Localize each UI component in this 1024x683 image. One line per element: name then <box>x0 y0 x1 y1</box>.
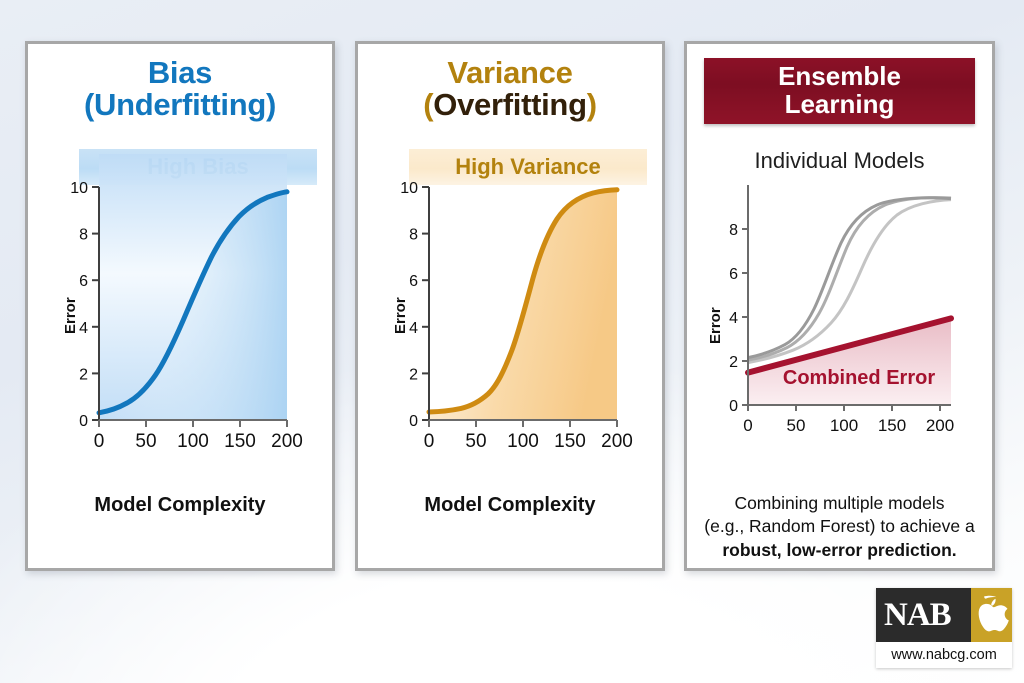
panel-variance-title-line1: Variance <box>358 57 662 89</box>
nab-wordmark-block: NAB <box>876 588 971 642</box>
paren-close: ) <box>587 87 597 122</box>
combined-error-label: Combined Error <box>783 367 935 389</box>
ensemble-caption-line2: (e.g., Random Forest) to achieve a <box>701 515 978 538</box>
svg-text:50: 50 <box>465 431 486 452</box>
panel-bias-title-line1: Bias <box>28 57 332 89</box>
svg-text:150: 150 <box>554 431 586 452</box>
svg-text:2: 2 <box>729 354 738 371</box>
infographic-canvas: Bias (Underfitting) High Bias <box>0 0 1024 683</box>
overfitting-word: Overfitting <box>433 87 586 122</box>
apple-icon-svg <box>971 588 1012 642</box>
svg-text:200: 200 <box>601 431 633 452</box>
variance-x-ticklabels: 0 50 100 150 200 <box>424 431 633 452</box>
panel-ensemble: Ensemble Learning Individual Models <box>684 41 995 571</box>
panel-bias-title-line2: (Underfitting) <box>28 89 332 121</box>
ensemble-x-ticklabels: 0 50 100 150 200 <box>743 416 954 435</box>
bias-y-ticks <box>92 187 99 420</box>
svg-text:150: 150 <box>878 416 906 435</box>
bias-chart-svg: 10 8 6 4 2 0 0 50 1 <box>48 154 320 514</box>
variance-chart-svg: 10 8 6 4 2 0 0 50 100 <box>378 154 650 514</box>
svg-text:0: 0 <box>79 413 88 430</box>
svg-text:2: 2 <box>409 366 418 383</box>
nab-logo[interactable]: NAB www.nabcg.com <box>876 588 1012 668</box>
svg-text:0: 0 <box>94 431 105 452</box>
variance-x-ticks <box>429 420 617 427</box>
svg-text:0: 0 <box>424 431 435 452</box>
svg-text:100: 100 <box>830 416 858 435</box>
svg-text:8: 8 <box>729 222 738 239</box>
svg-text:6: 6 <box>79 273 88 290</box>
variance-x-axis-title: Model Complexity <box>358 494 662 517</box>
ensemble-caption-line3: robust, low-error prediction. <box>701 539 978 562</box>
svg-text:0: 0 <box>743 416 752 435</box>
panel-bias-title: Bias (Underfitting) <box>28 57 332 121</box>
bias-y-axis-title: Error <box>62 297 79 334</box>
ensemble-banner-line2: Learning <box>778 91 901 119</box>
svg-text:200: 200 <box>271 431 303 452</box>
apple-icon <box>971 588 1012 642</box>
svg-text:100: 100 <box>177 431 209 452</box>
svg-text:6: 6 <box>409 273 418 290</box>
svg-text:50: 50 <box>135 431 156 452</box>
bias-x-axis-title: Model Complexity <box>28 494 332 517</box>
svg-text:8: 8 <box>79 227 88 244</box>
svg-text:10: 10 <box>70 180 88 197</box>
ensemble-banner-line1: Ensemble <box>778 63 901 91</box>
svg-text:100: 100 <box>507 431 539 452</box>
bias-chart: 10 8 6 4 2 0 0 50 1 <box>48 154 320 514</box>
ensemble-banner-text: Ensemble Learning <box>778 63 901 118</box>
ensemble-caption: Combining multiple models (e.g., Random … <box>701 492 978 562</box>
svg-text:8: 8 <box>409 227 418 244</box>
svg-text:10: 10 <box>400 180 418 197</box>
svg-text:200: 200 <box>926 416 954 435</box>
variance-area <box>429 190 617 420</box>
nab-logo-url: www.nabcg.com <box>876 642 1012 668</box>
svg-text:4: 4 <box>729 310 738 327</box>
variance-chart: 10 8 6 4 2 0 0 50 100 <box>378 154 650 514</box>
svg-text:6: 6 <box>729 266 738 283</box>
bias-x-ticks <box>99 420 287 427</box>
ensemble-y-ticklabels: 0 2 4 6 8 <box>729 222 738 415</box>
ensemble-chart-svg: 0 2 4 6 8 0 50 100 150 <box>701 169 983 474</box>
panel-variance-title-line2: (Overfitting) <box>358 89 662 121</box>
variance-y-axis-title: Error <box>392 297 409 334</box>
panel-variance-title: Variance (Overfitting) <box>358 57 662 121</box>
variance-y-ticks <box>422 187 429 420</box>
svg-text:2: 2 <box>79 366 88 383</box>
ensemble-caption-line1: Combining multiple models <box>701 492 978 515</box>
paren-open: ( <box>423 87 433 122</box>
svg-text:4: 4 <box>409 320 418 337</box>
svg-text:0: 0 <box>729 398 738 415</box>
svg-text:4: 4 <box>79 320 88 337</box>
svg-text:0: 0 <box>409 413 418 430</box>
ensemble-chart: 0 2 4 6 8 0 50 100 150 <box>701 169 983 474</box>
panel-bias: Bias (Underfitting) High Bias <box>25 41 335 571</box>
nab-logo-top: NAB <box>876 588 1012 642</box>
nab-wordmark: NAB <box>884 594 951 636</box>
svg-text:50: 50 <box>787 416 806 435</box>
bias-x-ticklabels: 0 50 100 150 200 <box>94 431 303 452</box>
panel-variance: Variance (Overfitting) High Variance <box>355 41 665 571</box>
svg-text:150: 150 <box>224 431 256 452</box>
ensemble-banner: Ensemble Learning <box>704 58 975 124</box>
ensemble-y-axis-title: Error <box>707 307 724 344</box>
